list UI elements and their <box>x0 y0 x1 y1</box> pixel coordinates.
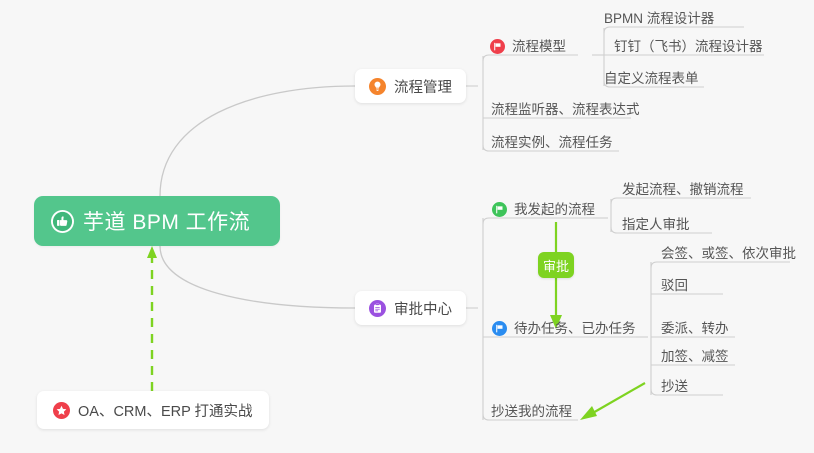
node-label: 钉钉（飞书）流程设计器 <box>614 39 763 54</box>
node-weipai-zhuanban[interactable]: 委派、转办 <box>661 321 735 339</box>
node-wo-faqi-de-liucheng[interactable]: 我发起的流程 <box>492 202 597 220</box>
thumbs-up-icon <box>51 210 74 233</box>
flag-icon <box>492 321 507 336</box>
node-shenpi-zhongxin[interactable]: 审批中心 <box>355 291 466 325</box>
node-label: 指定人审批 <box>622 217 690 232</box>
node-label: 加签、减签 <box>661 349 729 364</box>
flag-icon <box>490 39 505 54</box>
node-zhidingren-shenpi[interactable]: 指定人审批 <box>622 217 716 235</box>
node-label: 发起流程、撤销流程 <box>622 182 744 197</box>
node-label: 流程模型 <box>512 39 566 54</box>
root-label: 芋道 BPM 工作流 <box>83 206 250 236</box>
node-custom-form[interactable]: 自定义流程表单 <box>604 71 712 89</box>
node-label: 流程监听器、流程表达式 <box>491 102 640 117</box>
node-liucheng-moxing[interactable]: 流程模型 <box>490 39 582 57</box>
flow-label-shenpi[interactable]: 审批 <box>538 252 574 278</box>
root-node[interactable]: 芋道 BPM 工作流 <box>34 196 280 246</box>
node-jiaqian-jianqian[interactable]: 加签、减签 <box>661 349 735 367</box>
flag-icon <box>492 202 507 217</box>
arrow-chaosong-to-chaosong-wode <box>580 383 645 420</box>
node-faqi-chexiao-liucheng[interactable]: 发起流程、撤销流程 <box>622 182 754 200</box>
node-label: 流程实例、流程任务 <box>491 135 613 150</box>
node-chaosong[interactable]: 抄送 <box>661 379 723 397</box>
star-icon <box>53 402 70 419</box>
node-bohui[interactable]: 驳回 <box>661 278 723 296</box>
node-chaosong-wode-liucheng[interactable]: 抄送我的流程 <box>491 404 579 422</box>
flow-label-text: 审批 <box>543 256 569 275</box>
node-dingding-designer[interactable]: 钉钉（飞书）流程设计器 <box>614 39 769 57</box>
node-daiban-yiban-renwu[interactable]: 待办任务、已办任务 <box>492 321 640 339</box>
node-oa-crm-erp[interactable]: OA、CRM、ERP 打通实战 <box>37 391 269 429</box>
node-liucheng-jiantingqi[interactable]: 流程监听器、流程表达式 <box>491 102 636 120</box>
node-label: 待办任务、已办任务 <box>514 321 636 336</box>
clipboard-icon <box>369 300 386 317</box>
node-label: 驳回 <box>661 278 688 293</box>
node-label: 委派、转办 <box>661 321 729 336</box>
node-label: 我发起的流程 <box>514 202 595 217</box>
node-label: 审批中心 <box>394 298 452 319</box>
node-bpmn-designer[interactable]: BPMN 流程设计器 <box>604 11 749 29</box>
node-label: OA、CRM、ERP 打通实战 <box>78 400 253 421</box>
node-label: 抄送我的流程 <box>491 404 572 419</box>
node-liucheng-shili[interactable]: 流程实例、流程任务 <box>491 135 623 153</box>
node-label: 会签、或签、依次审批 <box>661 246 796 261</box>
node-label: 抄送 <box>661 379 688 394</box>
wire-root-to-shenpi-zhongxin <box>160 246 355 308</box>
lightbulb-icon <box>369 78 386 95</box>
node-liucheng-guanli[interactable]: 流程管理 <box>355 69 466 103</box>
node-huiqian-huoqian-yicishenpi[interactable]: 会签、或签、依次审批 <box>661 246 793 264</box>
arrow-oa-to-root <box>147 246 157 391</box>
mindmap-canvas: 芋道 BPM 工作流 流程管理 审批中心 <box>0 0 814 453</box>
node-label: 自定义流程表单 <box>604 71 699 86</box>
wire-root-to-liucheng-guanli <box>160 86 355 196</box>
node-label: 流程管理 <box>394 76 452 97</box>
node-label: BPMN 流程设计器 <box>604 11 714 26</box>
